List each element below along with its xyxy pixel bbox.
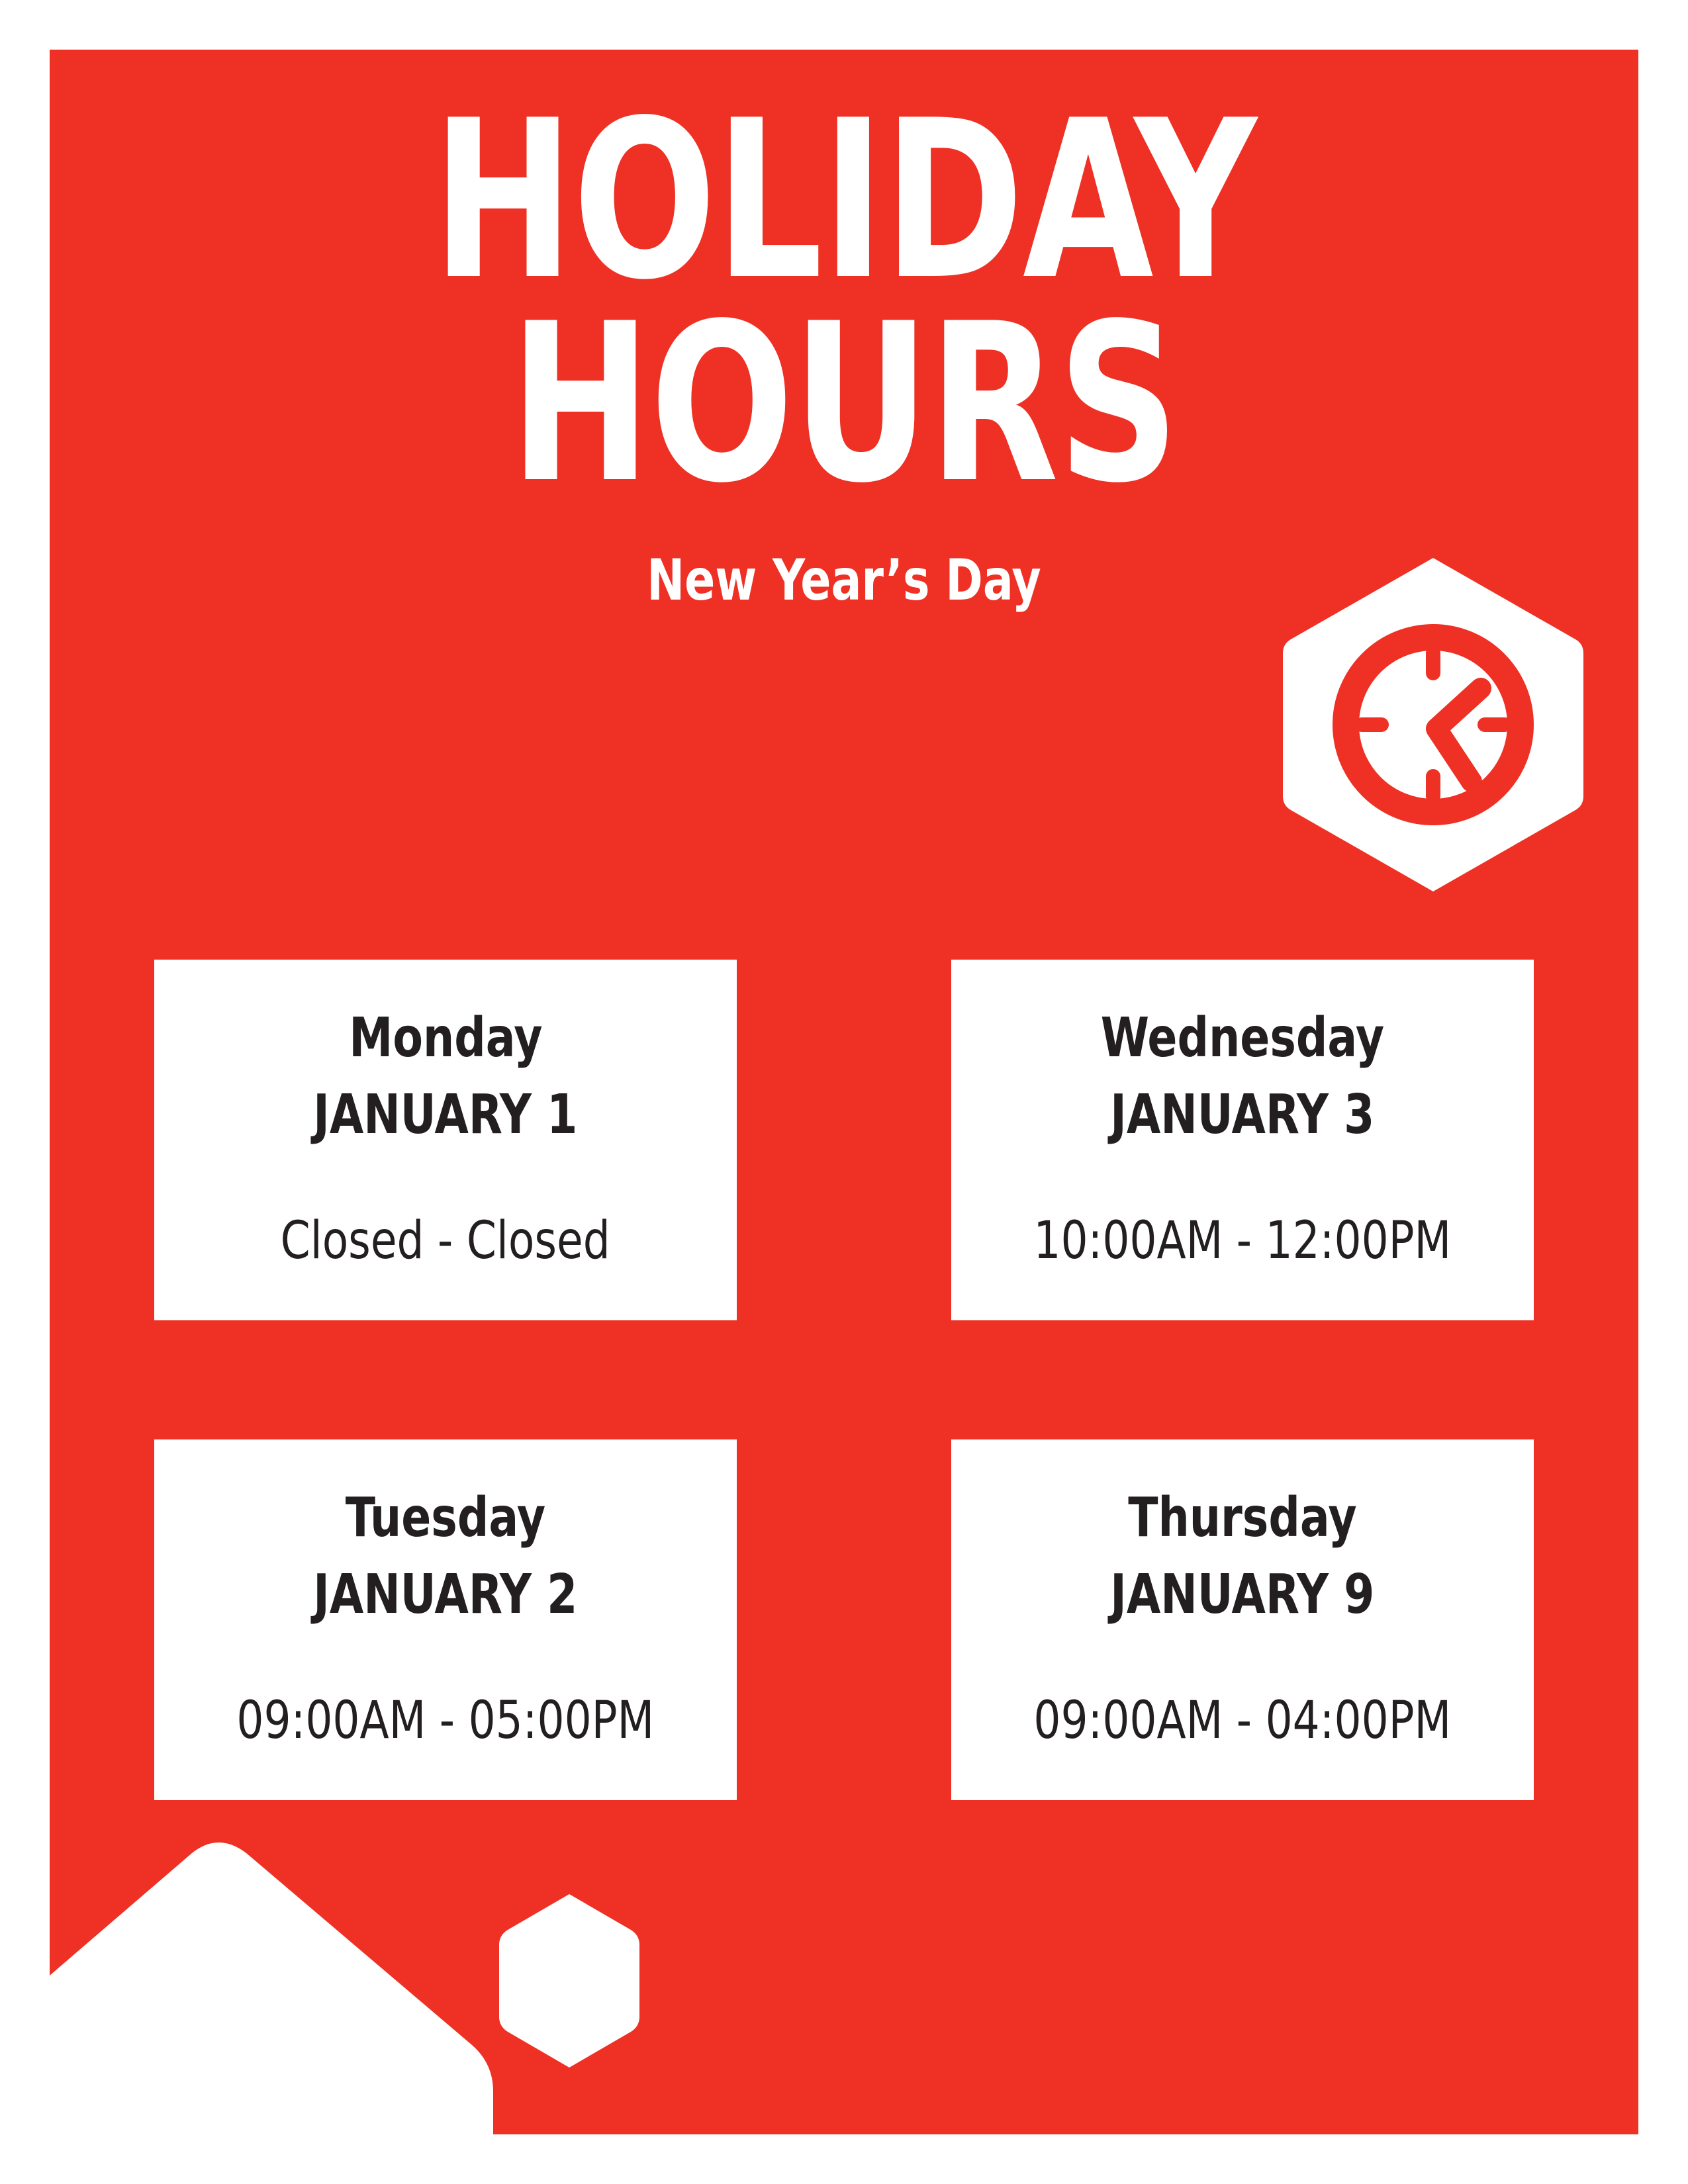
clock-badge — [1278, 553, 1589, 897]
card-date-label: JANUARY 2 — [313, 1568, 577, 1622]
clock-icon — [1346, 637, 1521, 812]
card-hours-label: 09:00AM - 05:00PM — [237, 1695, 655, 1747]
card-day-label: Monday — [349, 1011, 542, 1066]
card-date-label: JANUARY 1 — [313, 1088, 577, 1142]
holiday-hours-poster: HOLIDAY HOURS New Year’s Day Monday JANU… — [0, 0, 1688, 2184]
card-date-label: JANUARY 9 — [1110, 1568, 1374, 1622]
card-day-label: Tuesday — [346, 1491, 545, 1545]
card-hours-label: 09:00AM - 04:00PM — [1034, 1695, 1452, 1747]
card-day-label: Thursday — [1128, 1491, 1356, 1545]
card-hours-label: 10:00AM - 12:00PM — [1034, 1215, 1452, 1267]
schedule-card[interactable]: Wednesday JANUARY 3 10:00AM - 12:00PM — [951, 960, 1534, 1320]
card-day-label: Wednesday — [1101, 1011, 1384, 1066]
schedule-card[interactable]: Monday JANUARY 1 Closed - Closed — [154, 960, 737, 1320]
schedule-card[interactable]: Thursday JANUARY 9 09:00AM - 04:00PM — [951, 1439, 1534, 1800]
card-date-label: JANUARY 3 — [1110, 1088, 1374, 1142]
schedule-card[interactable]: Tuesday JANUARY 2 09:00AM - 05:00PM — [154, 1439, 737, 1800]
card-hours-label: Closed - Closed — [281, 1215, 610, 1267]
